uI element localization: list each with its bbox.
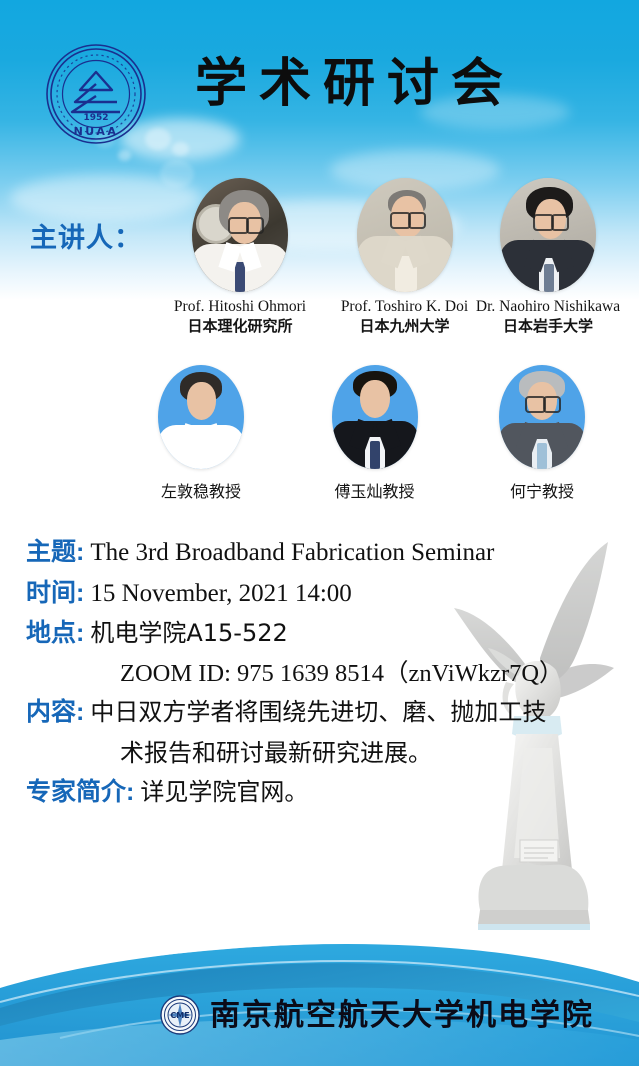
nuaa-seal-icon: 1952 NUAA	[44, 42, 148, 146]
detail-row-place: 地点: 机电学院A15-522	[0, 616, 639, 652]
speaker-name: Prof. Hitoshi Ohmori	[145, 298, 335, 316]
bio-label: 专家简介:	[26, 775, 134, 811]
content-line-2: 术报告和研讨最新研究进展。	[120, 736, 639, 770]
speaker-row-japanese: Prof. Hitoshi Ohmori 日本理化研究所 Prof. Toshi…	[0, 178, 639, 338]
zoom-meeting-value: ZOOM ID: 975 1639 8514（znViWkzr7Q）	[120, 657, 639, 692]
bubble-decoration	[118, 150, 131, 161]
page-title: 学术研讨会	[195, 58, 515, 110]
college-seal-text: CME	[170, 1011, 189, 1020]
avatar	[499, 365, 585, 469]
bio-value: 详见学院官网。	[140, 775, 639, 809]
footer-banner: CME 南京航空航天大学机电学院	[0, 930, 639, 1066]
speaker-name: Dr. Naohiro Nishikawa	[455, 298, 639, 316]
detail-row-time: 时间: 15 November, 2021 14:00	[0, 576, 639, 612]
detail-content-continuation: 术报告和研讨最新研究进展。	[0, 736, 639, 770]
topic-value: The 3rd Broadband Fabrication Seminar	[90, 535, 639, 571]
detail-row-content: 内容: 中日双方学者将围绕先进切、磨、抛加工技	[0, 695, 639, 731]
detail-row-topic: 主题: The 3rd Broadband Fabrication Semina…	[0, 535, 639, 571]
content-label: 内容:	[26, 695, 84, 731]
avatar	[332, 365, 418, 469]
seminar-poster: 1952 NUAA 学术研讨会 主讲人： Prof. Hitoshi Ohmor…	[0, 0, 639, 1066]
speaker-card: 傅玉灿教授	[292, 365, 457, 502]
avatar	[500, 178, 596, 292]
bubble-decoration	[172, 142, 189, 156]
details-block: 主题: The 3rd Broadband Fabrication Semina…	[0, 535, 639, 815]
speaker-card: Dr. Naohiro Nishikawa 日本岩手大学	[455, 178, 639, 336]
speaker-name: 傅玉灿教授	[292, 478, 457, 502]
content-line-1: 中日双方学者将围绕先进切、磨、抛加工技	[90, 695, 639, 729]
speaker-affiliation: 日本岩手大学	[455, 317, 639, 337]
seal-latin-text: NUAA	[74, 125, 119, 138]
cme-college-seal-icon: CME	[160, 995, 200, 1035]
seal-year: 1952	[83, 113, 108, 123]
speaker-name: 何宁教授	[462, 478, 622, 502]
bubble-decoration	[145, 128, 171, 150]
avatar	[357, 178, 453, 292]
detail-row-zoom: ZOOM ID: 975 1639 8514（znViWkzr7Q）	[0, 657, 639, 692]
avatar	[192, 178, 288, 292]
speaker-card: Prof. Hitoshi Ohmori 日本理化研究所	[145, 178, 335, 336]
time-value: 15 November, 2021 14:00	[90, 576, 639, 612]
speaker-card: 左敦稳教授	[116, 365, 286, 502]
speaker-affiliation: 日本理化研究所	[145, 317, 335, 337]
speaker-row-chinese: 左敦稳教授 傅玉灿教授	[0, 365, 639, 510]
place-label: 地点:	[26, 616, 84, 652]
speaker-name: 左敦稳教授	[116, 478, 286, 502]
detail-row-bio: 专家简介: 详见学院官网。	[0, 775, 639, 811]
avatar	[158, 365, 244, 469]
topic-label: 主题:	[26, 535, 84, 571]
place-value: 机电学院A15-522	[90, 616, 639, 650]
speaker-card: 何宁教授	[462, 365, 622, 502]
footer-institution-name: 南京航空航天大学机电学院	[210, 996, 594, 1037]
time-label: 时间:	[26, 576, 84, 612]
